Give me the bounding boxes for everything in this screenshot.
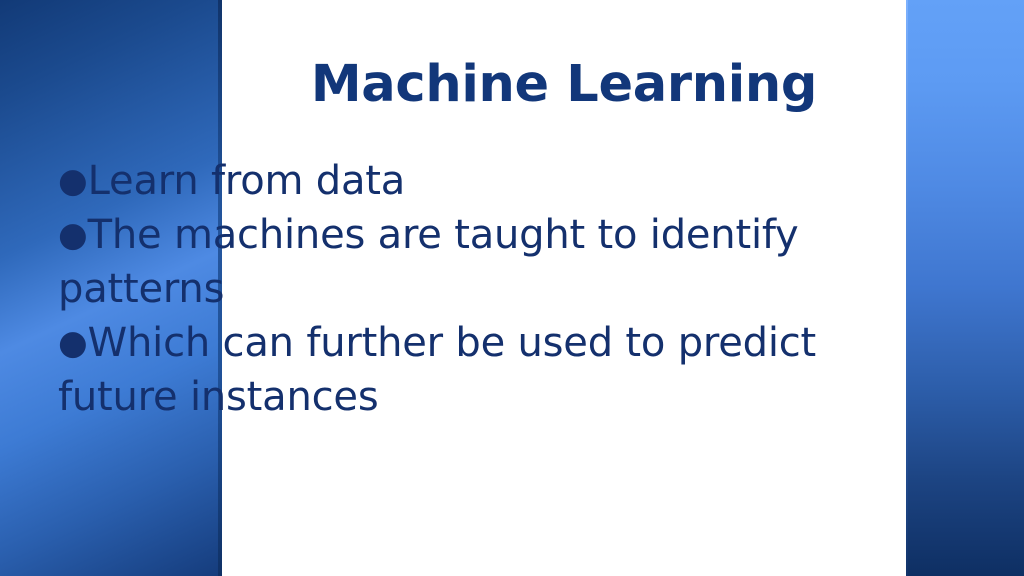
bullet-icon: ● <box>58 215 88 255</box>
list-item-label: patterns <box>58 266 224 312</box>
slide-content: Machine Learning ●Learn from data ●The m… <box>0 0 1024 576</box>
list-item-continuation: future instances <box>58 370 888 424</box>
bullet-icon: ● <box>58 323 88 363</box>
list-item-continuation: patterns <box>58 262 888 316</box>
slide-title: Machine Learning <box>222 58 906 112</box>
list-item: ●Which can further be used to predict <box>58 316 888 370</box>
list-item: ●Learn from data <box>58 154 888 208</box>
list-item-label: future instances <box>58 374 378 420</box>
slide-body-list: ●Learn from data ●The machines are taugh… <box>58 154 888 424</box>
presentation-slide: Machine Learning ●Learn from data ●The m… <box>0 0 1024 576</box>
list-item-label: Which can further be used to predict <box>88 320 816 366</box>
list-item: ●The machines are taught to identify <box>58 208 888 262</box>
bullet-icon: ● <box>58 161 88 201</box>
list-item-label: The machines are taught to identify <box>88 212 799 258</box>
list-item-label: Learn from data <box>88 158 405 204</box>
